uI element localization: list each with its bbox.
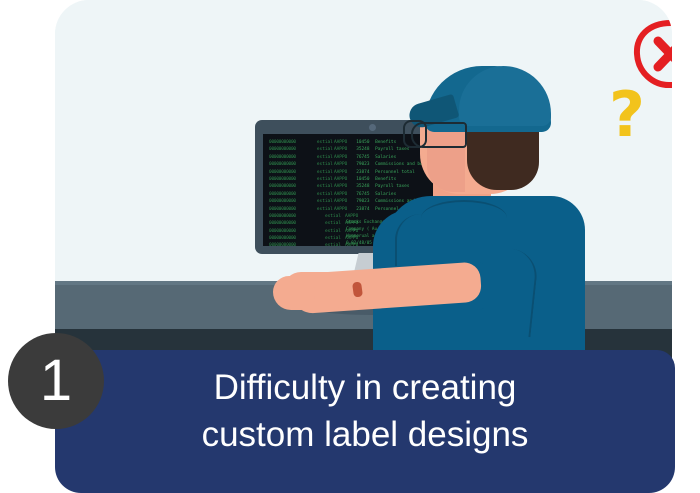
glasses-lens xyxy=(403,120,427,148)
illustration-panel: 00000000000estialAAPPO10450Benefits017NS… xyxy=(55,0,672,361)
infographic-card: 00000000000estialAAPPO10450Benefits017NS… xyxy=(0,0,700,493)
wristband xyxy=(352,281,363,297)
caption-text: Difficulty in creating custom label desi… xyxy=(55,364,675,458)
caption-banner: Difficulty in creating custom label desi… xyxy=(55,350,675,493)
person-hand xyxy=(273,276,315,310)
caption-line-2: custom label designs xyxy=(55,411,675,458)
caption-line-1: Difficulty in creating xyxy=(55,364,675,411)
question-mark-icon: ? xyxy=(609,84,653,146)
person-illustration xyxy=(55,0,672,361)
step-number: 1 xyxy=(40,352,72,410)
step-number-badge: 1 xyxy=(8,333,104,429)
